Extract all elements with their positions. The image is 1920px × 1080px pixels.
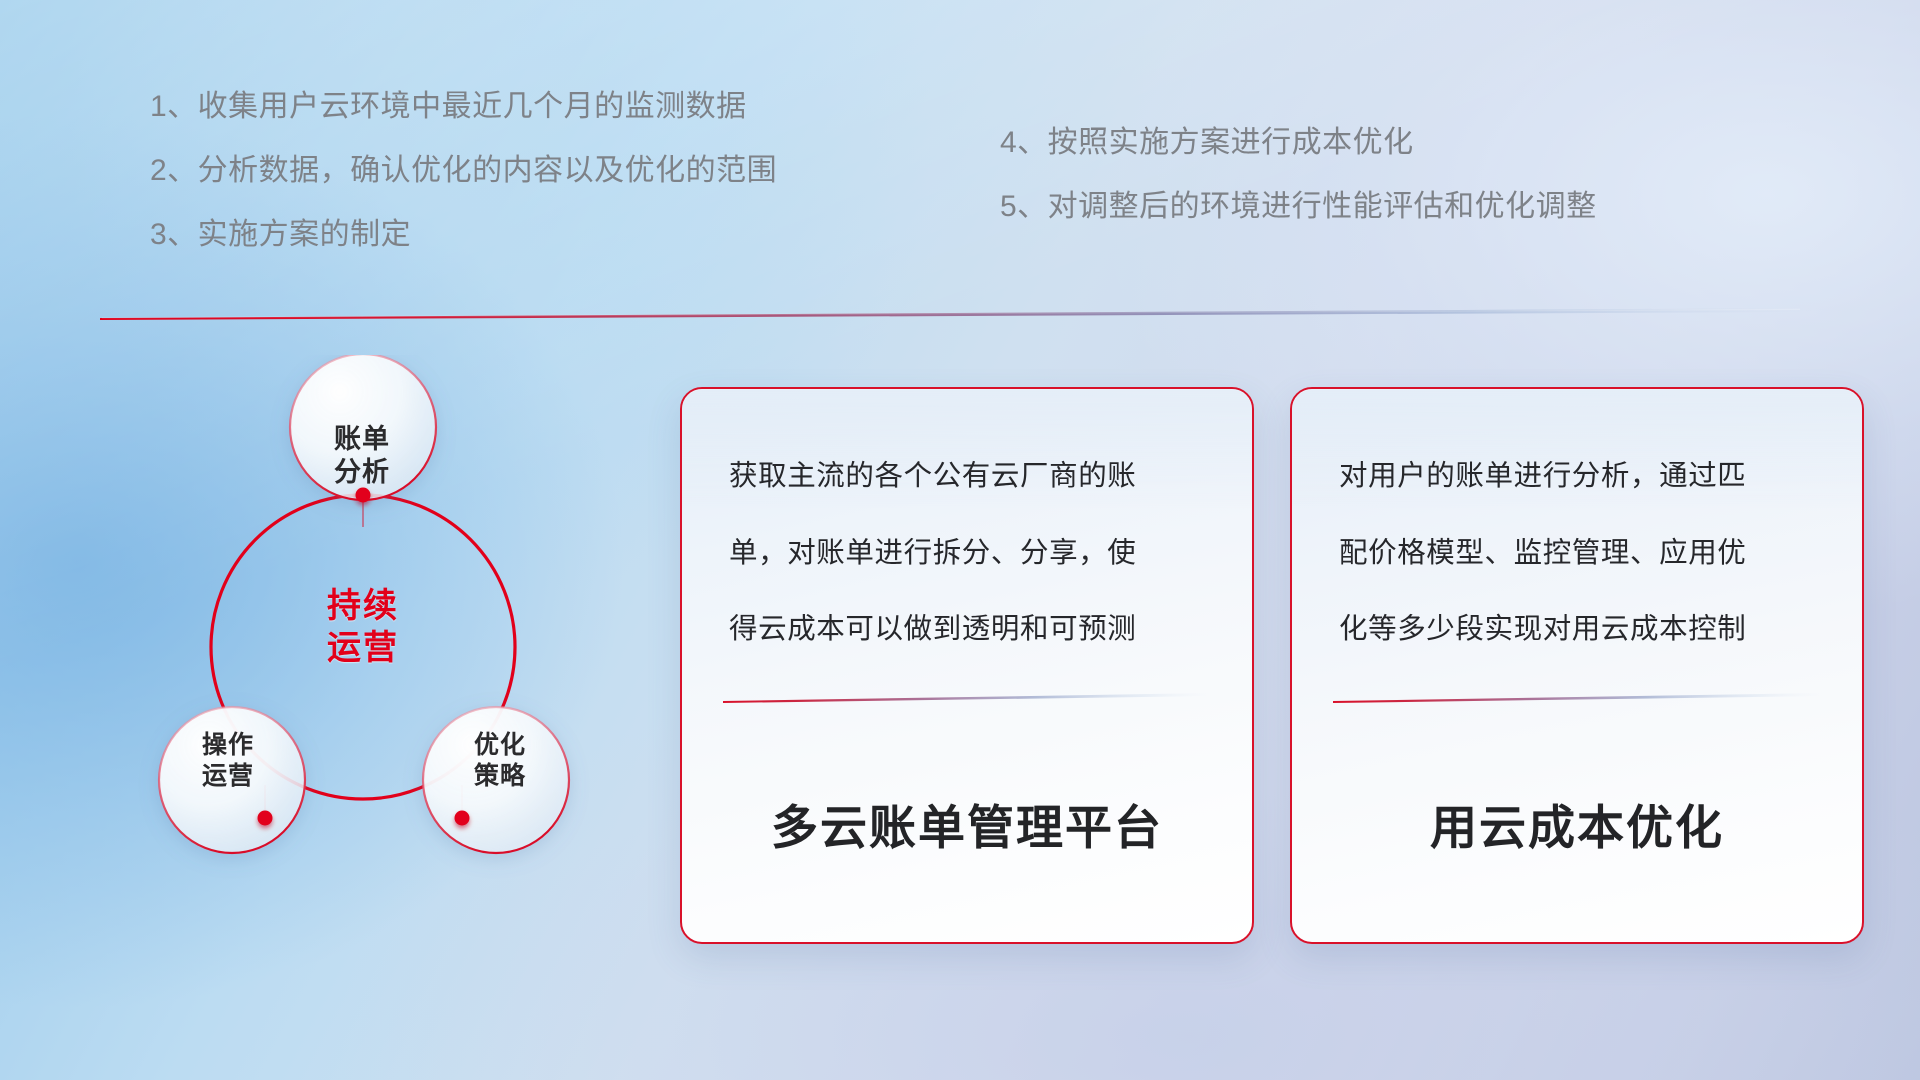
card-text-line: 化等多少段实现对用云成本控制	[1339, 615, 1815, 644]
card-divider	[723, 692, 1213, 703]
info-card-cloud-cost-optimization[interactable]: 对用户的账单进行分析，通过匹 配价格模型、监控管理、应用优 化等多少段实现对用云…	[1290, 387, 1864, 944]
diagram-pin-right	[455, 811, 470, 826]
list-item: 5、对调整后的环境进行性能评估和优化调整	[1000, 192, 1597, 222]
list-item: 1、收集用户云环境中最近几个月的监测数据	[150, 92, 777, 122]
diagram-pin-top	[356, 488, 371, 503]
diagram-center-label: 持续 运营	[283, 585, 443, 669]
center-label-line-1: 持续	[283, 585, 443, 627]
card-title: 用云成本优化	[1292, 789, 1862, 858]
list-item: 2、分析数据，确认优化的内容以及优化的范围	[150, 156, 777, 186]
continuous-operations-diagram: 账单 分析 操作 运营 优化 策略 持续 运营	[100, 355, 640, 935]
diagram-node-left	[159, 707, 305, 853]
card-divider	[1333, 692, 1823, 703]
steps-left-column: 1、收集用户云环境中最近几个月的监测数据 2、分析数据，确认优化的内容以及优化的…	[150, 92, 777, 284]
card-text-line: 得云成本可以做到透明和可预测	[729, 615, 1205, 644]
card-text-line: 获取主流的各个公有云厂商的账	[729, 462, 1205, 491]
steps-right-column: 4、按照实施方案进行成本优化 5、对调整后的环境进行性能评估和优化调整	[1000, 128, 1597, 256]
steps-section: 1、收集用户云环境中最近几个月的监测数据 2、分析数据，确认优化的内容以及优化的…	[0, 92, 1920, 272]
diagram-node-right	[423, 707, 569, 853]
card-text-line: 单，对账单进行拆分、分享，使	[729, 539, 1205, 568]
card-title: 多云账单管理平台	[682, 789, 1252, 858]
section-divider	[100, 306, 1812, 320]
diagram-pin-left	[258, 811, 273, 826]
diagram-node-top	[290, 355, 436, 500]
card-body: 获取主流的各个公有云厂商的账 单，对账单进行拆分、分享，使 得云成本可以做到透明…	[682, 389, 1252, 644]
info-card-multicloud-billing[interactable]: 获取主流的各个公有云厂商的账 单，对账单进行拆分、分享，使 得云成本可以做到透明…	[680, 387, 1254, 944]
card-body: 对用户的账单进行分析，通过匹 配价格模型、监控管理、应用优 化等多少段实现对用云…	[1292, 389, 1862, 644]
center-label-line-2: 运营	[283, 627, 443, 669]
list-item: 3、实施方案的制定	[150, 220, 777, 250]
card-text-line: 对用户的账单进行分析，通过匹	[1339, 462, 1815, 491]
card-text-line: 配价格模型、监控管理、应用优	[1339, 539, 1815, 568]
list-item: 4、按照实施方案进行成本优化	[1000, 128, 1597, 158]
